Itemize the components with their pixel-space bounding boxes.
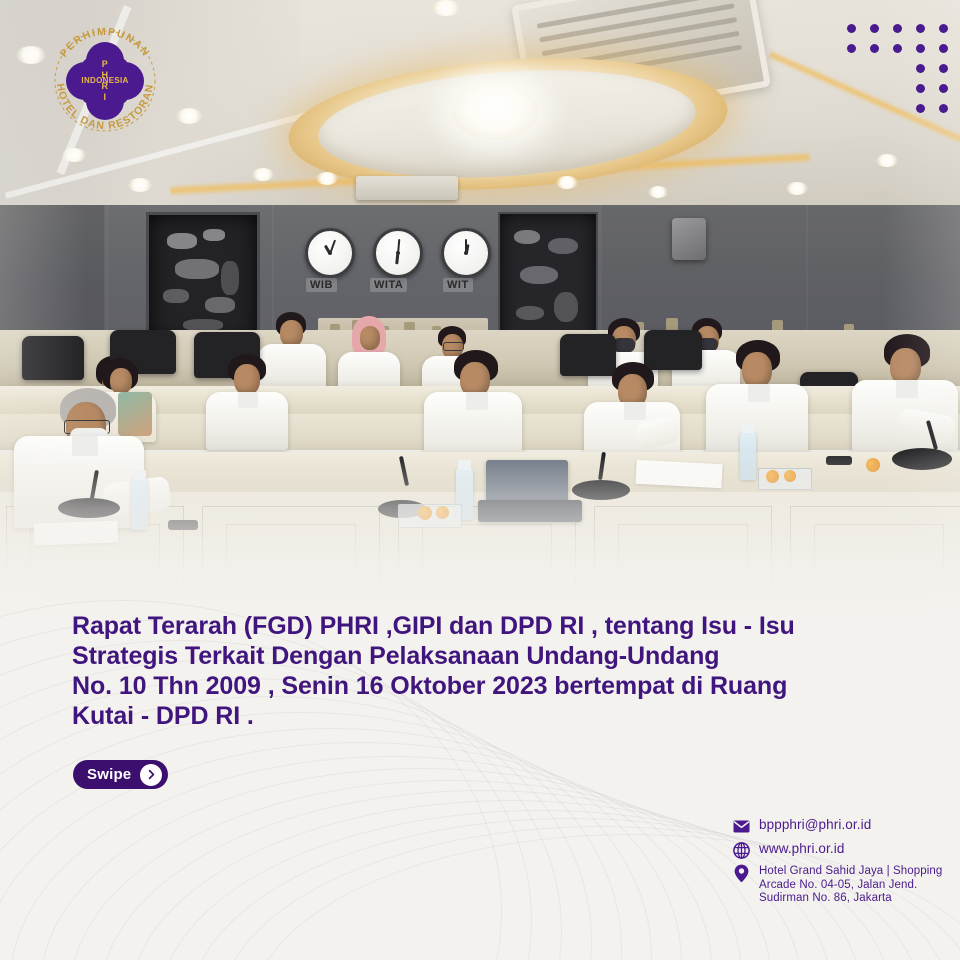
- contact-address-text: Hotel Grand Sahid Jaya | Shopping Arcade…: [759, 865, 943, 906]
- logo-flower-mark: PHRI INDONESIA: [69, 45, 141, 117]
- phri-logo: PERHIMPUNAN HOTEL DAN RESTORAN PHRI INDO…: [46, 22, 164, 140]
- contact-block: bppphri@phri.or.id www.phri.or.id: [733, 817, 943, 912]
- page-title: Rapat Terarah (FGD) PHRI ,GIPI dan DPD R…: [72, 611, 902, 731]
- poster-canvas: WIB WITA WIT: [0, 0, 960, 960]
- background-swirl-texture: [0, 0, 960, 960]
- map-pin-icon: [733, 865, 750, 882]
- contact-address: Hotel Grand Sahid Jaya | Shopping Arcade…: [733, 865, 943, 906]
- envelope-icon: [733, 818, 750, 835]
- swipe-label: Swipe: [87, 766, 131, 783]
- contact-website-text: www.phri.or.id: [759, 841, 844, 856]
- logo-center-text: INDONESIA: [69, 76, 141, 85]
- contact-website[interactable]: www.phri.or.id: [733, 841, 943, 859]
- globe-icon: [733, 842, 750, 859]
- chevron-right-icon: [140, 764, 162, 786]
- contact-email-text: bppphri@phri.or.id: [759, 817, 871, 832]
- swipe-button[interactable]: Swipe: [73, 760, 168, 789]
- contact-email[interactable]: bppphri@phri.or.id: [733, 817, 943, 835]
- dot-grid-decoration: [847, 24, 947, 112]
